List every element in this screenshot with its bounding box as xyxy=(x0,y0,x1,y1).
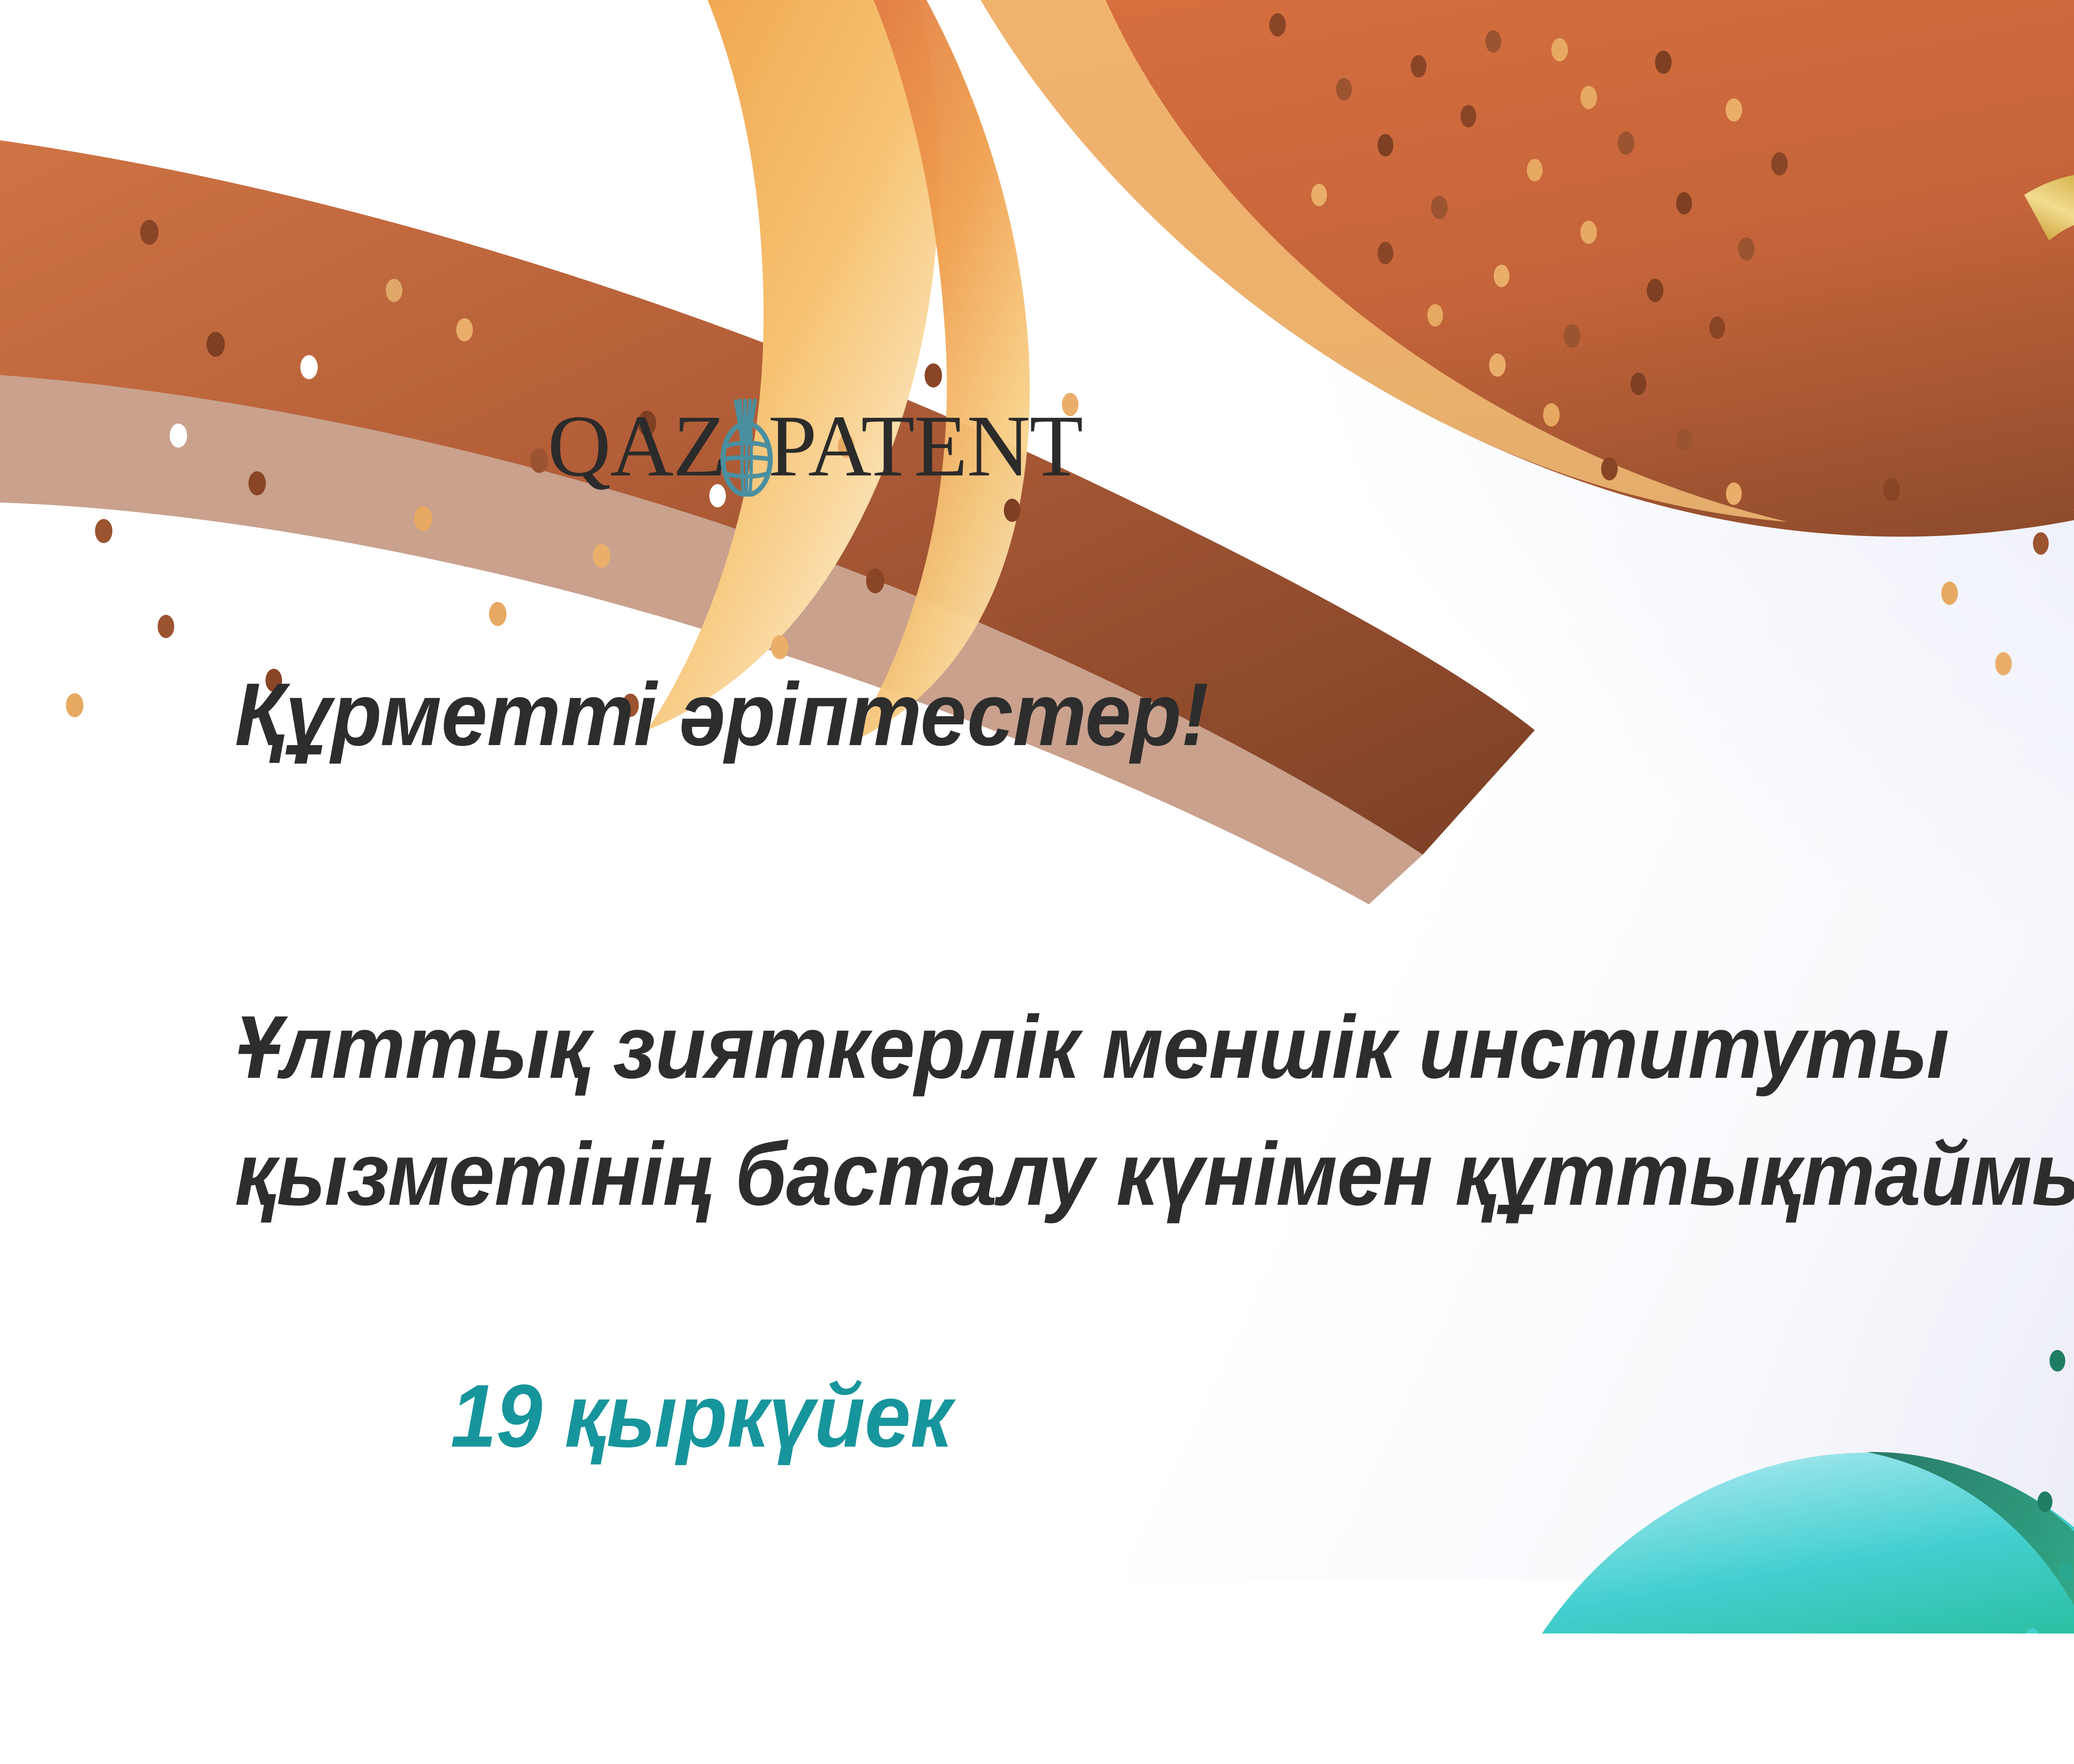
body-line-2: қызметінің басталу күнімен құттықтаймыз! xyxy=(235,1115,2074,1233)
logo-suffix: PATENT xyxy=(768,402,1083,490)
date-line: 19 қыркүйек xyxy=(450,1357,2074,1475)
message-block: Құрметті әріптестер! Ұлттық зияткерлік м… xyxy=(235,655,2074,1475)
body-line-1: Ұлттық зияткерлік меншік институты xyxy=(235,988,2074,1106)
qazpatent-logo: QAZ xyxy=(548,396,1082,496)
body-text: Ұлттық зияткерлік меншік институты қызме… xyxy=(235,988,2074,1233)
logo-prefix: QAZ xyxy=(548,402,726,490)
greeting-line: Құрметті әріптестер! xyxy=(235,655,2074,773)
shanyrak-globe-icon xyxy=(720,399,773,497)
greeting-card: QAZ xyxy=(0,0,2074,1764)
